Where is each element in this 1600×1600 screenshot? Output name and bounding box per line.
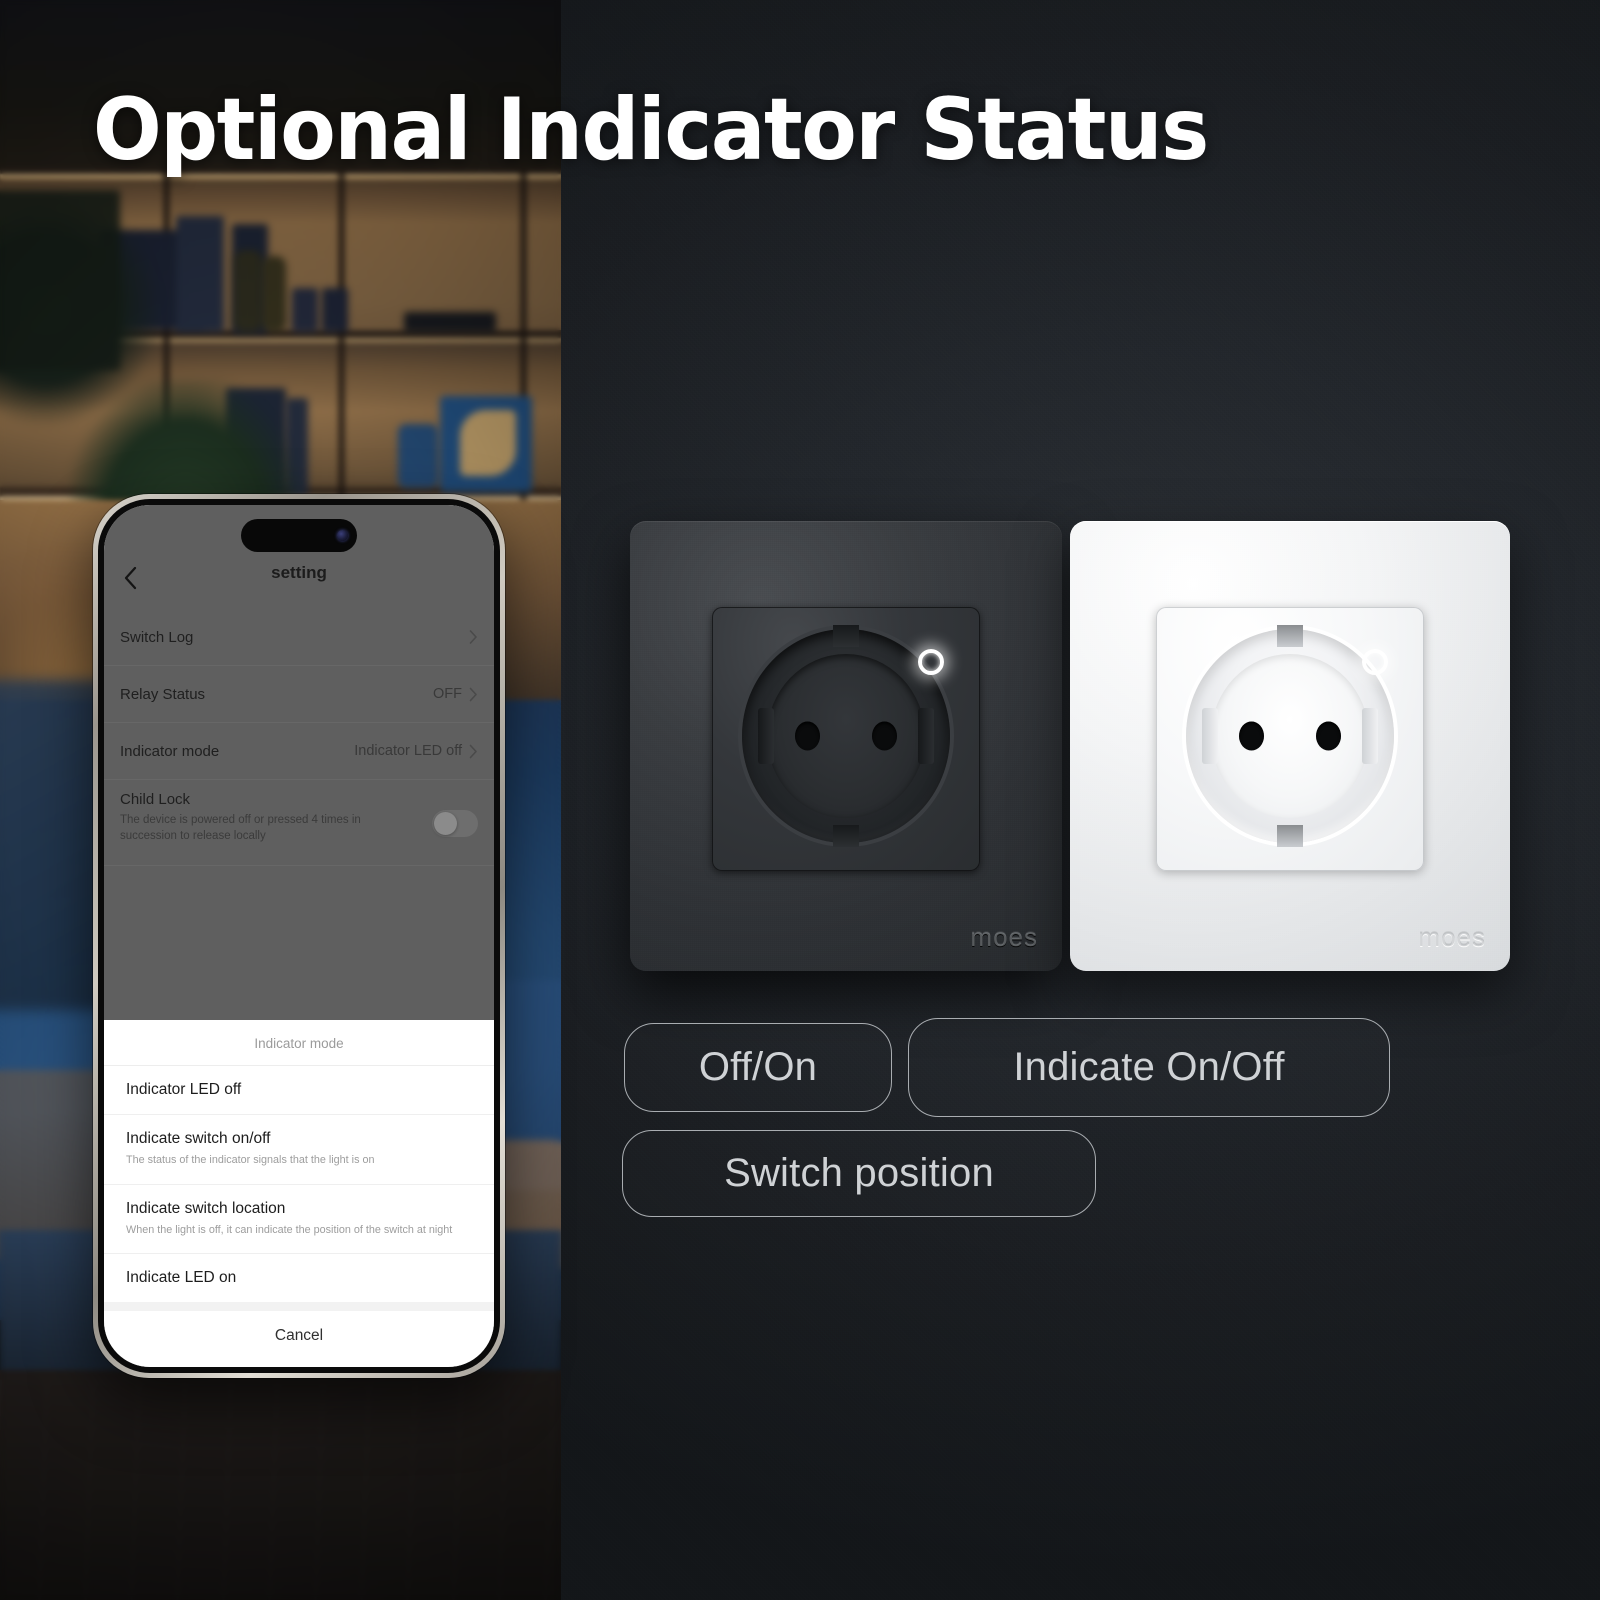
white-pin-hole-right (1316, 722, 1341, 751)
option-label: Indicate LED on (126, 1269, 472, 1287)
black-socket: moes (630, 521, 1062, 971)
action-sheet-option-indicate-switch-on-off[interactable]: Indicate switch on/off The status of the… (104, 1115, 494, 1184)
phone-bezel: setting Switch Log Relay Status (98, 499, 500, 1373)
settings-row-indicator-mode[interactable]: Indicator mode Indicator LED off (104, 723, 494, 780)
feature-pill-switch-position: Switch position (622, 1130, 1096, 1217)
brand-logo: moes (970, 922, 1038, 953)
action-sheet-divider (104, 1302, 494, 1311)
settings-row-child-lock[interactable]: Child Lock The device is powered off or … (104, 780, 494, 866)
child-lock-toggle[interactable] (432, 810, 478, 837)
poster-stage: Optional Indicator Status setting (0, 0, 1600, 1600)
child-lock-text: Child Lock The device is powered off or … (120, 791, 420, 845)
option-label: Indicator LED off (126, 1081, 472, 1099)
nav-title: setting (104, 563, 494, 583)
front-camera-icon (337, 530, 348, 541)
chevron-right-icon (469, 630, 478, 645)
option-description: When the light is off, it can indicate t… (126, 1223, 472, 1238)
row-label: Relay Status (120, 686, 205, 703)
nav-bar: setting (104, 559, 494, 597)
black-earth-contact-left (758, 708, 774, 764)
page-title: Optional Indicator Status (93, 80, 1208, 180)
black-earth-clip-top (833, 625, 859, 647)
settings-row-relay-status[interactable]: Relay Status OFF (104, 666, 494, 723)
phone-mockup: setting Switch Log Relay Status (93, 494, 505, 1378)
chevron-right-icon (469, 687, 478, 702)
option-label: Indicate switch on/off (126, 1130, 472, 1148)
black-socket-well (767, 654, 925, 818)
row-label: Indicator mode (120, 743, 219, 760)
row-label: Switch Log (120, 629, 193, 646)
white-earth-clip-bottom (1277, 825, 1303, 847)
row-label: Child Lock (120, 791, 420, 808)
row-accessory (469, 630, 478, 645)
white-earth-contact-right (1362, 708, 1378, 764)
toggle-knob (434, 812, 457, 835)
row-value: OFF (433, 686, 462, 702)
white-socket-well (1211, 654, 1369, 818)
feature-pill-off-on: Off/On (624, 1023, 892, 1112)
white-pin-hole-left (1239, 722, 1264, 751)
white-socket: moes (1070, 521, 1510, 971)
black-socket-insert (712, 607, 980, 871)
settings-rows: Switch Log Relay Status OFF (104, 609, 494, 866)
row-accessory: Indicator LED off (354, 743, 478, 759)
option-label: Indicate switch location (126, 1200, 472, 1218)
action-sheet-option-indicator-led-off[interactable]: Indicator LED off (104, 1066, 494, 1115)
led-indicator-ring-icon (1362, 649, 1388, 675)
option-description: The status of the indicator signals that… (126, 1153, 472, 1168)
white-socket-insert (1156, 607, 1424, 871)
indicator-mode-action-sheet: Indicator mode Indicator LED off Indicat… (104, 1020, 494, 1367)
action-sheet-option-indicate-led-on[interactable]: Indicate LED on (104, 1254, 494, 1302)
black-pin-hole-left (795, 722, 820, 751)
white-earth-contact-left (1202, 708, 1218, 764)
brand-logo: moes (1418, 922, 1486, 953)
row-accessory: OFF (433, 686, 478, 702)
action-sheet-option-indicate-switch-location[interactable]: Indicate switch location When the light … (104, 1185, 494, 1254)
phone-screen: setting Switch Log Relay Status (104, 505, 494, 1367)
cancel-button[interactable]: Cancel (104, 1311, 494, 1367)
white-earth-clip-top (1277, 625, 1303, 647)
settings-row-switch-log[interactable]: Switch Log (104, 609, 494, 666)
row-value: Indicator LED off (354, 743, 462, 759)
led-indicator-ring-icon (918, 649, 944, 675)
row-description: The device is powered off or pressed 4 t… (120, 812, 420, 845)
black-earth-contact-right (918, 708, 934, 764)
feature-pill-indicate-on-off: Indicate On/Off (908, 1018, 1390, 1117)
action-sheet-title: Indicator mode (104, 1020, 494, 1066)
black-earth-clip-bottom (833, 825, 859, 847)
black-pin-hole-right (872, 722, 897, 751)
chevron-right-icon (469, 744, 478, 759)
dynamic-island (241, 519, 357, 552)
